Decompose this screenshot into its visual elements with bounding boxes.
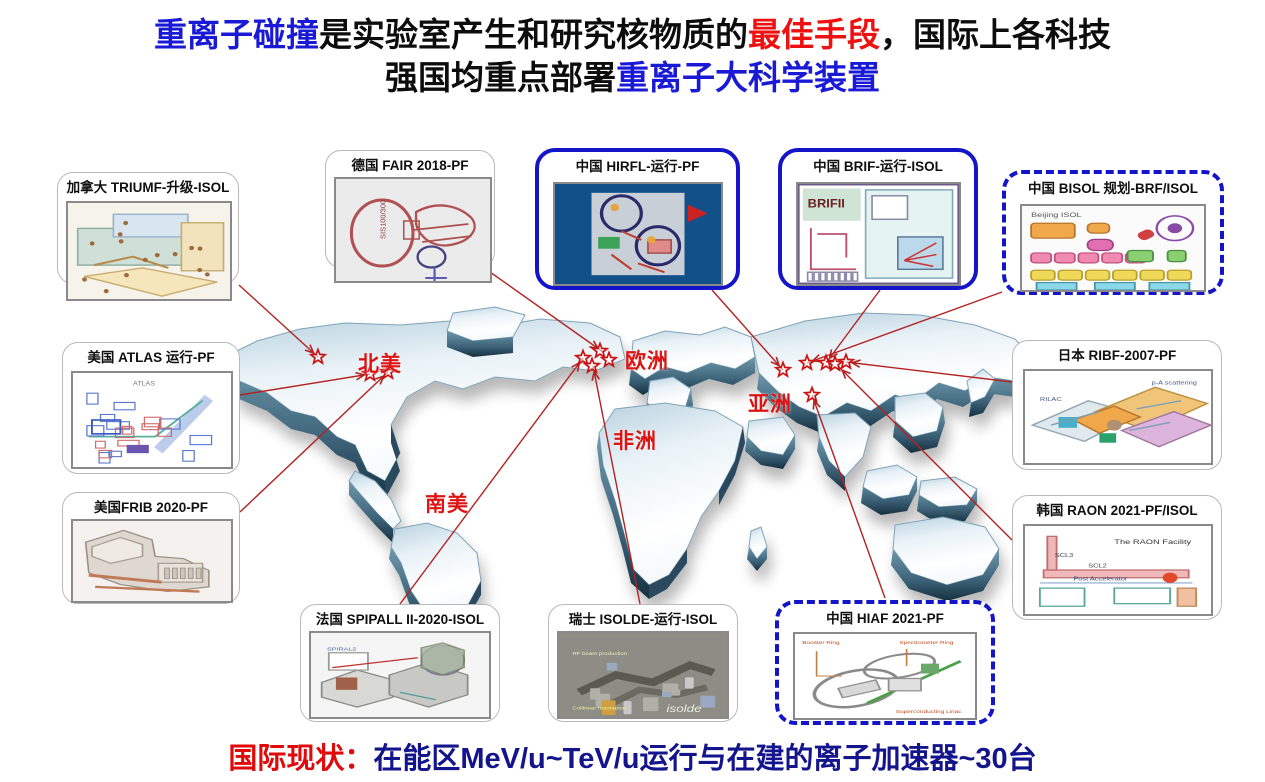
callout-hiaf[interactable]: 中国 HIAF 2021-PFBooster RingSpectrometer …	[775, 600, 995, 725]
callout-thumbnail-brif: BRIFII	[796, 182, 961, 286]
title-seg-5: 强国均重点部署	[385, 59, 616, 96]
callout-title-hirfl: 中国 HIRFL-运行-PF	[545, 158, 730, 176]
svg-text:Spectrometer Ring: Spectrometer Ring	[899, 641, 953, 646]
callout-title-raon: 韩国 RAON 2021-PF/ISOL	[1019, 502, 1215, 520]
svg-text:isolde: isolde	[667, 704, 703, 715]
callout-thumbnail-bisol: Beijing ISOL	[1020, 204, 1206, 292]
callout-bisol[interactable]: 中国 BISOL 规划-BRF/ISOLBeijing ISOL	[1002, 170, 1224, 295]
title-seg-4: ，国际上各科技	[880, 16, 1111, 53]
svg-text:RF beam production: RF beam production	[572, 652, 627, 657]
callout-title-ribf: 日本 RIBF-2007-PF	[1019, 347, 1215, 365]
continent-label-asia: 亚洲	[748, 388, 792, 418]
svg-text:SPIRAL2: SPIRAL2	[327, 646, 357, 652]
title-seg-3: 最佳手段	[748, 16, 880, 53]
svg-text:The RAON Facility: The RAON Facility	[1114, 538, 1191, 545]
svg-text:Booster Ring: Booster Ring	[802, 641, 839, 646]
callout-title-bisol: 中国 BISOL 规划-BRF/ISOL	[1012, 180, 1214, 198]
title-line-2: 强国均重点部署重离子大科学装置	[0, 57, 1265, 100]
callout-title-brif: 中国 BRIF-运行-ISOL	[788, 158, 968, 176]
title-seg-1: 重离子碰撞	[154, 16, 319, 53]
callout-title-isolde: 瑞士 ISOLDE-运行-ISOL	[555, 611, 731, 629]
slide-title: 重离子碰撞是实验室产生和研究核物质的最佳手段，国际上各科技 强国均重点部署重离子…	[0, 14, 1265, 100]
callout-title-fair: 德国 FAIR 2018-PF	[332, 157, 488, 175]
callout-brif[interactable]: 中国 BRIF-运行-ISOLBRIFII	[778, 148, 978, 290]
svg-text:SIS100/300: SIS100/300	[378, 200, 387, 239]
title-seg-2: 是实验室产生和研究核物质的	[319, 16, 748, 53]
callout-thumbnail-hirfl	[553, 182, 723, 286]
svg-text:Collinear resonance: Collinear resonance	[572, 706, 626, 711]
callout-thumbnail-frib	[71, 519, 233, 603]
svg-text:ATLAS: ATLAS	[133, 381, 156, 388]
callout-title-frib: 美国FRIB 2020-PF	[69, 499, 233, 517]
callout-thumbnail-triumf	[66, 201, 232, 301]
svg-text:SCL2: SCL2	[1088, 563, 1107, 569]
callout-title-hiaf: 中国 HIAF 2021-PF	[785, 610, 985, 628]
callout-title-triumf: 加拿大 TRIUMF-升级-ISOL	[64, 179, 232, 197]
continent-label-europe: 欧洲	[625, 345, 669, 375]
callout-thumbnail-isolde: RF beam productionCollinear resonanceiso…	[557, 631, 729, 719]
callout-isolde[interactable]: 瑞士 ISOLDE-运行-ISOLRF beam productionColli…	[548, 604, 738, 722]
continent-label-africa: 非洲	[613, 425, 657, 455]
svg-text:p-A scattering: p-A scattering	[1151, 380, 1197, 386]
caption-prefix: 国际现状：	[228, 743, 373, 775]
continent-label-south-america: 南美	[425, 488, 469, 518]
svg-text:Superconducting Linac: Superconducting Linac	[896, 710, 962, 715]
svg-text:RILAC: RILAC	[1040, 397, 1062, 403]
callout-fair[interactable]: 德国 FAIR 2018-PFSIS100/300	[325, 150, 495, 268]
callout-thumbnail-atlas: ATLAS	[71, 371, 233, 469]
world-map	[195, 285, 1075, 630]
callout-thumbnail-spiral2: SPIRAL2	[309, 631, 491, 719]
callout-title-atlas: 美国 ATLAS 运行-PF	[69, 349, 233, 367]
continent-label-north-america: 北美	[358, 348, 402, 378]
svg-text:SCL3: SCL3	[1055, 553, 1074, 559]
title-seg-6: 重离子大科学装置	[616, 59, 880, 96]
callout-thumbnail-ribf: RILACp-A scattering	[1023, 369, 1213, 465]
svg-text:Post Accelerator: Post Accelerator	[1073, 576, 1128, 582]
caption-body: 在能区MeV/u~TeV/u运行与在建的离子加速器~30台	[373, 743, 1036, 775]
callout-thumbnail-hiaf: Booster RingSpectrometer RingSuperconduc…	[793, 632, 977, 720]
svg-text:Beijing ISOL: Beijing ISOL	[1031, 212, 1082, 219]
callout-ribf[interactable]: 日本 RIBF-2007-PFRILACp-A scattering	[1012, 340, 1222, 470]
title-line-1: 重离子碰撞是实验室产生和研究核物质的最佳手段，国际上各科技	[0, 14, 1265, 57]
callout-triumf[interactable]: 加拿大 TRIUMF-升级-ISOL	[57, 172, 239, 284]
svg-text:BRIFII: BRIFII	[808, 197, 845, 210]
callout-thumbnail-fair: SIS100/300	[334, 177, 492, 283]
slide-canvas: 重离子碰撞是实验室产生和研究核物质的最佳手段，国际上各科技 强国均重点部署重离子…	[0, 0, 1265, 782]
callout-spiral2[interactable]: 法国 SPIPALL II-2020-ISOLSPIRAL2	[300, 604, 500, 722]
callout-thumbnail-raon: The RAON FacilitySCL3SCL2Post Accelerato…	[1023, 524, 1213, 616]
callout-frib[interactable]: 美国FRIB 2020-PF	[62, 492, 240, 604]
callout-raon[interactable]: 韩国 RAON 2021-PF/ISOLThe RAON FacilitySCL…	[1012, 495, 1222, 620]
callout-hirfl[interactable]: 中国 HIRFL-运行-PF	[535, 148, 740, 290]
bottom-caption: 国际现状：在能区MeV/u~TeV/u运行与在建的离子加速器~30台	[0, 735, 1265, 777]
callout-title-spiral2: 法国 SPIPALL II-2020-ISOL	[307, 611, 493, 629]
callout-atlas[interactable]: 美国 ATLAS 运行-PFATLAS	[62, 342, 240, 474]
